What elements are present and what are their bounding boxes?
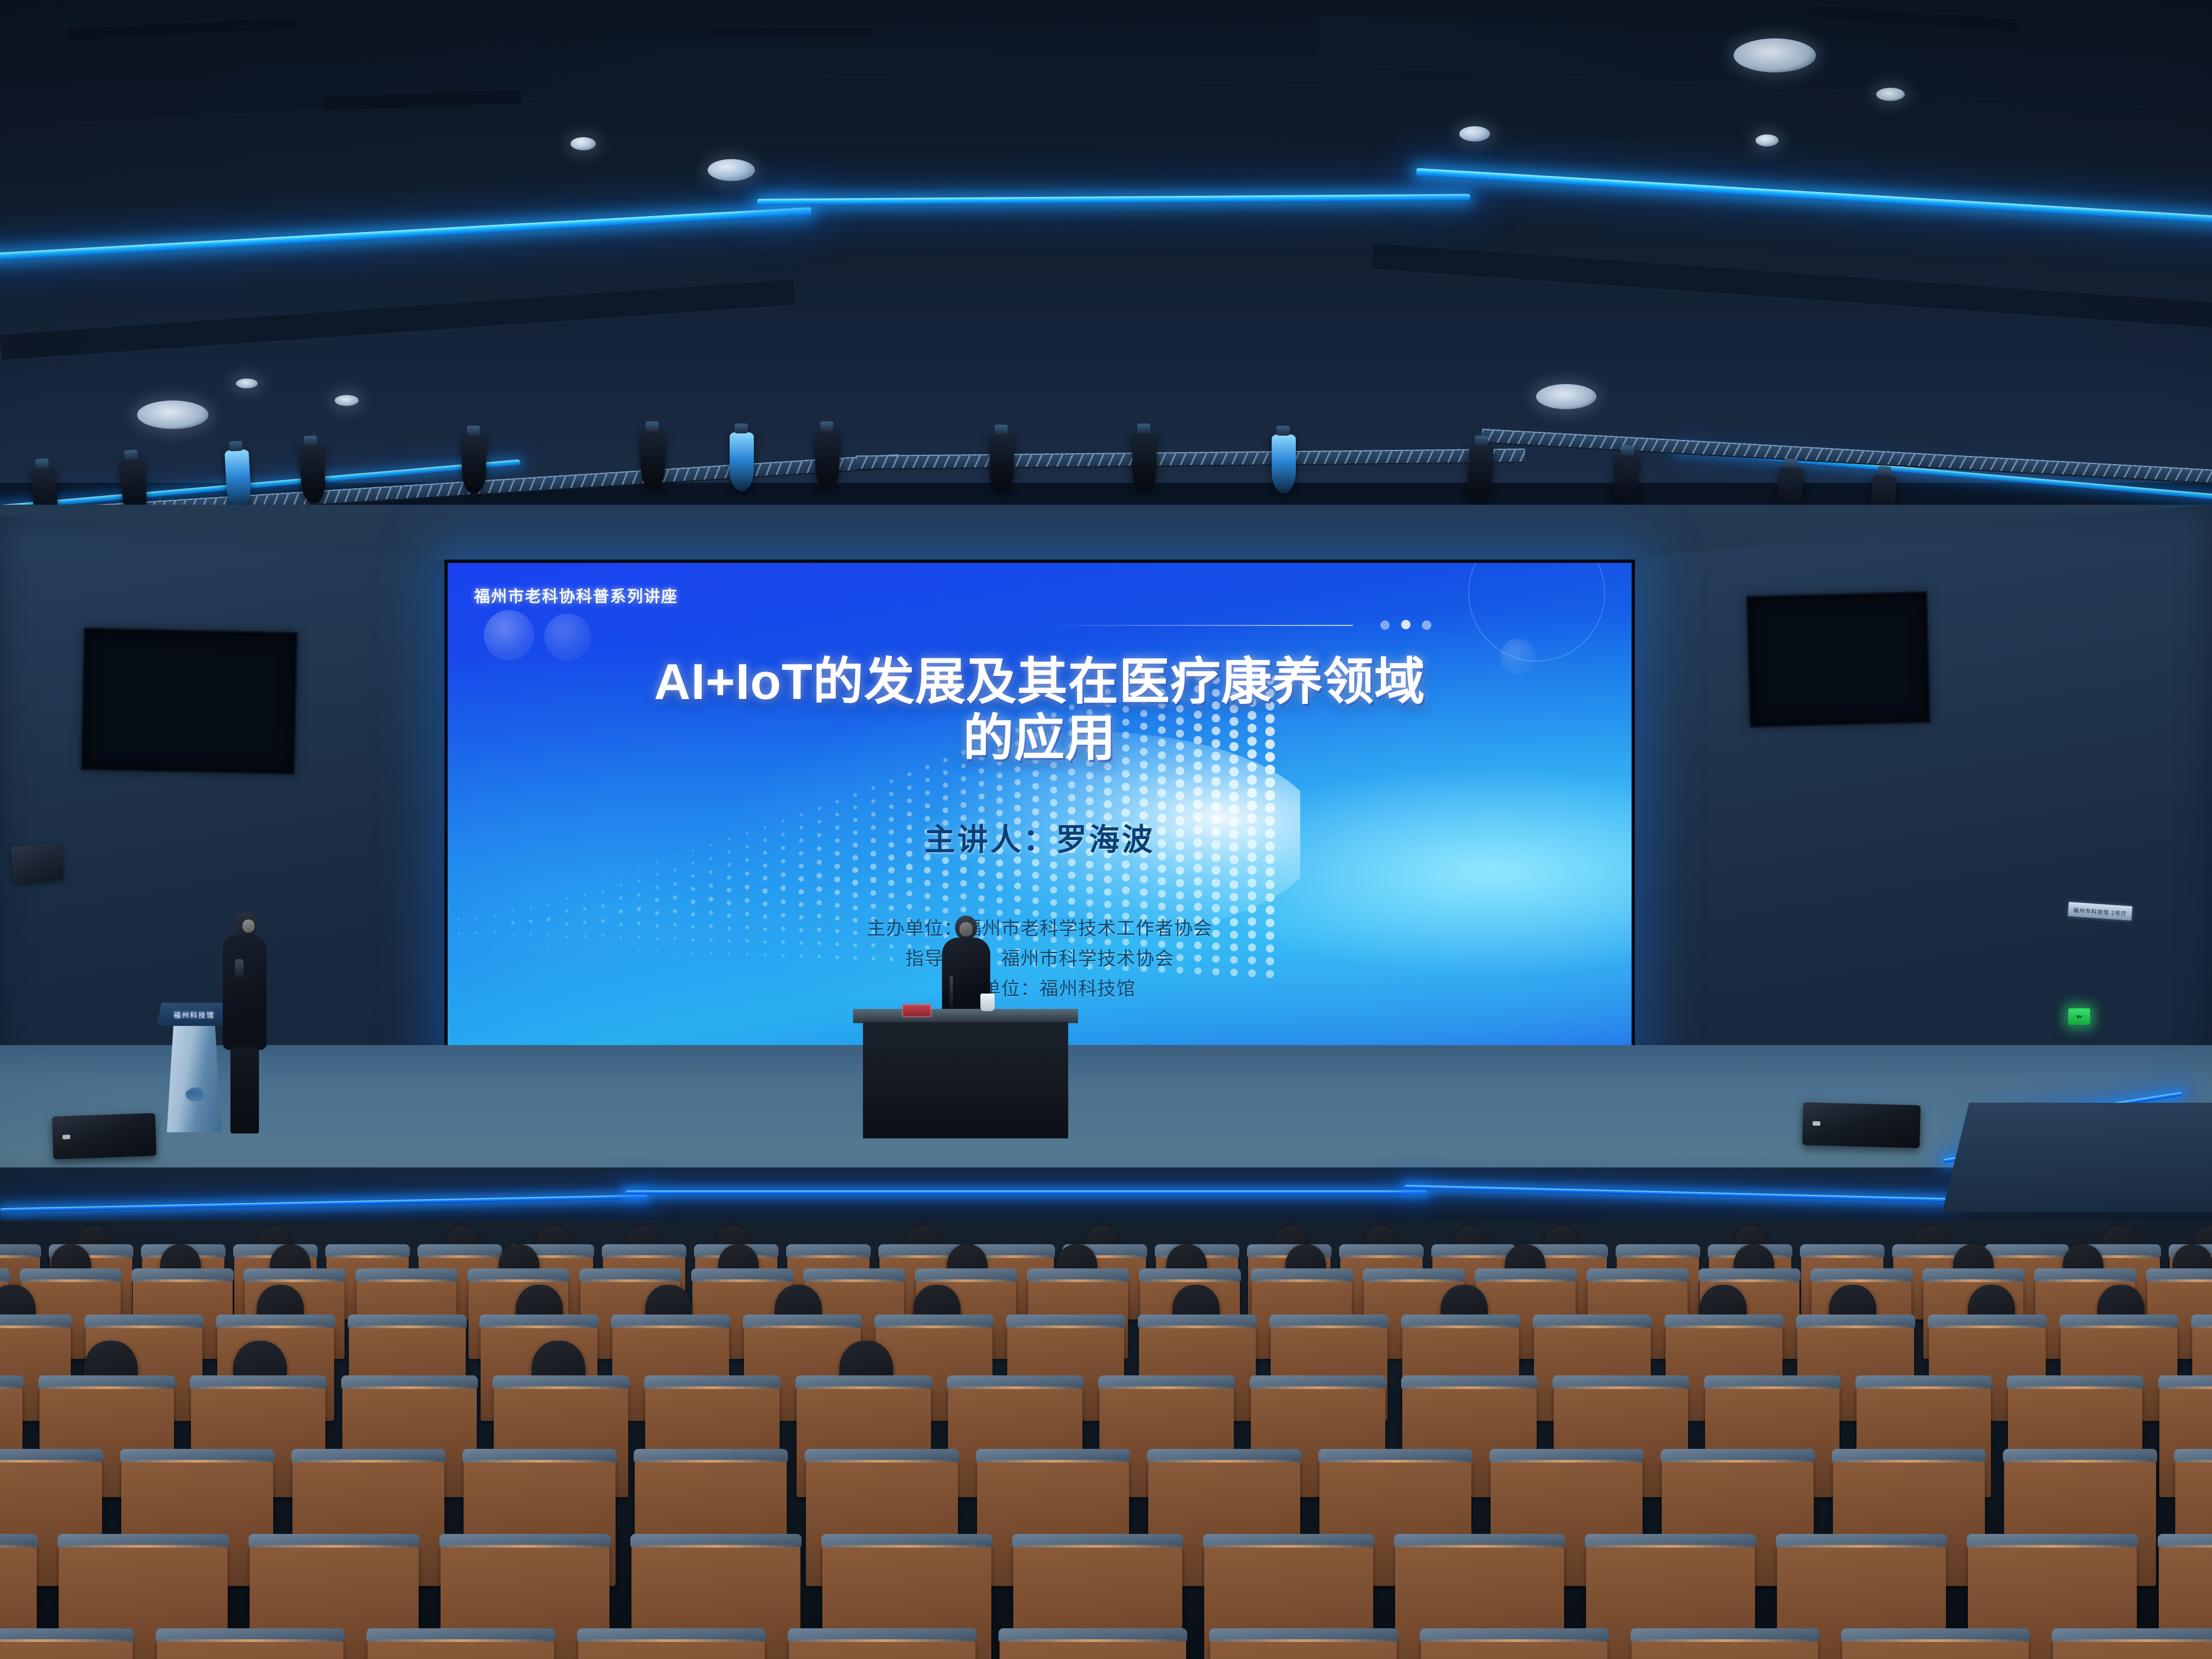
- stage-floor-monitor: [52, 1113, 157, 1160]
- decor-dot: [1380, 620, 1390, 630]
- emergency-exit-icon: ⇦: [2068, 1008, 2090, 1025]
- stage-light: [990, 433, 1014, 493]
- stage-table: [853, 985, 1078, 1138]
- ceiling-downlight: [571, 137, 596, 150]
- lectern-logo-icon: [185, 1087, 204, 1102]
- auditorium-photo: 福州市科技馆 2号厅 ⇦: [0, 0, 2212, 1659]
- audience-seat: [157, 1638, 343, 1659]
- decor-hairline: [1046, 625, 1353, 626]
- audience-area: [0, 1221, 2212, 1659]
- ceiling-downlight: [1459, 126, 1490, 142]
- decor-circle: [484, 610, 534, 661]
- stage-light: [1132, 432, 1156, 492]
- slide-title-line1: AI+IoT的发展及其在医疗康养领域: [448, 654, 1632, 710]
- paper-cup: [980, 994, 995, 1011]
- audience-seat: [1421, 1638, 1607, 1659]
- audience-seat: [1842, 1638, 2029, 1659]
- table-surface: [853, 1009, 1078, 1023]
- ceiling-downlight: [1734, 38, 1816, 72]
- slide-title: AI+IoT的发展及其在医疗康养领域 的应用: [448, 654, 1632, 767]
- slide-kicker: 福州市老科协科普系列讲座: [474, 584, 678, 607]
- decor-circle: [1468, 563, 1605, 662]
- ceiling-downlight: [1536, 384, 1596, 409]
- audience-seat: [578, 1638, 765, 1659]
- standing-presenter: [218, 912, 271, 1133]
- slide-speaker-label: 主讲人：罗海波: [448, 815, 1632, 860]
- right-side-display: [1746, 591, 1931, 728]
- credit-organizer: 主办单位：福州市老科学技术工作者协会: [448, 914, 1632, 944]
- stage-light: [1272, 435, 1296, 494]
- table-skirt: [863, 1022, 1068, 1138]
- ceiling-downlight: [1876, 88, 1905, 101]
- stage-light: [462, 435, 486, 494]
- presenter-legs: [230, 1047, 259, 1133]
- left-wall-speaker: [11, 843, 64, 883]
- audience-seat: [2053, 1638, 2212, 1659]
- stage-floor-monitor: [1802, 1102, 1921, 1148]
- presenter-face: [242, 919, 255, 933]
- slide-title-line2: 的应用: [448, 710, 1632, 767]
- ceiling-vent: [708, 26, 872, 37]
- audience-seat: [789, 1638, 975, 1659]
- stage-edge-neon: [625, 1190, 1426, 1194]
- presenter-torso: [223, 935, 267, 1050]
- table-microphone-icon: [950, 976, 953, 1010]
- audience-seat: [1000, 1638, 1186, 1659]
- audience-seat: [1632, 1638, 1818, 1659]
- stage-light: [815, 430, 839, 489]
- stage-light: [730, 432, 754, 492]
- name-plate: [902, 1005, 931, 1017]
- decor-dot: [1422, 620, 1431, 630]
- left-side-display: [81, 628, 297, 775]
- ceiling-downlight: [708, 159, 755, 181]
- seated-speaker-face: [960, 922, 973, 936]
- stage-steps: [1942, 1103, 2212, 1212]
- audience-seat: [0, 1638, 133, 1659]
- decor-dot: [1401, 620, 1410, 629]
- lectern-label: 福州科技馆: [161, 1009, 227, 1020]
- stage-light: [1466, 444, 1494, 504]
- ceiling-downlight: [335, 395, 359, 406]
- stage-light: [641, 430, 665, 489]
- credit-guidance: 指导单位：福州市科学技术协会: [448, 944, 1632, 974]
- exit-arrow-glyph: ⇦: [2068, 1008, 2090, 1025]
- audience-seat: [368, 1638, 554, 1659]
- ceiling-downlight: [137, 400, 208, 429]
- lectern-body: [167, 1026, 222, 1132]
- ceiling-downlight: [236, 379, 258, 388]
- handheld-microphone-icon: [235, 959, 244, 980]
- ceiling-downlight: [1756, 134, 1779, 146]
- audience-seat: [1210, 1638, 1397, 1659]
